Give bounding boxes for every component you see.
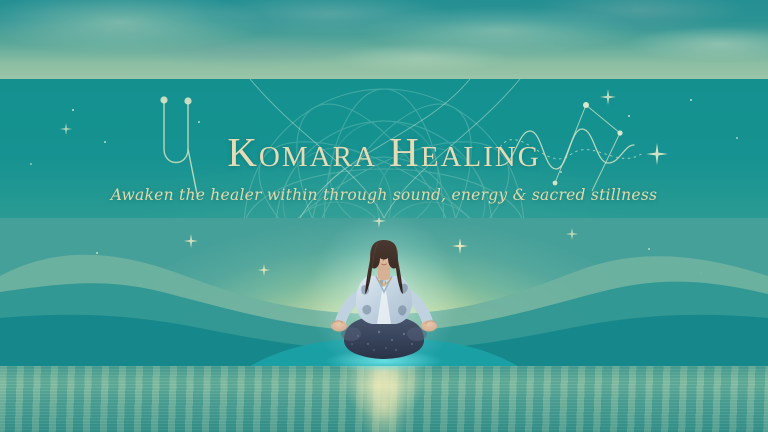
woman-lotus-pose: [324, 236, 444, 366]
page-title: Komara Healing: [0, 132, 768, 173]
komara-healing-hero-banner: Komara Healing Awaken the healer within …: [0, 0, 768, 432]
meditating-figure: [324, 236, 444, 366]
star-dot: [690, 99, 692, 101]
star-dot: [72, 109, 74, 111]
sky-photo-strip: [0, 0, 768, 79]
tagline: Awaken the healer within through sound, …: [0, 188, 768, 204]
